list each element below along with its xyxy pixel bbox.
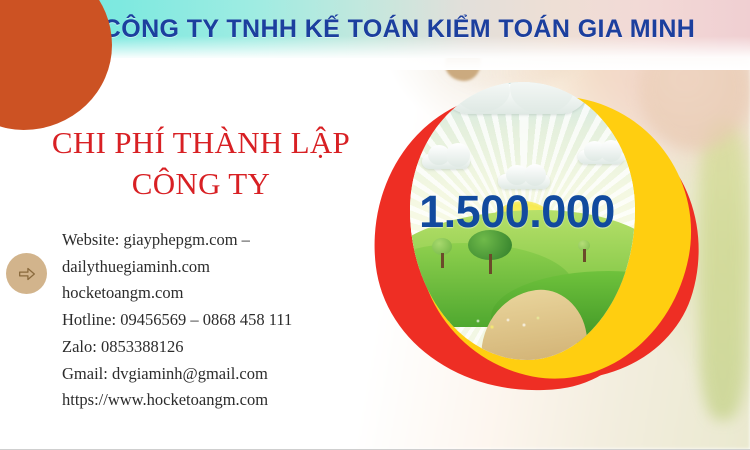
promo-banner: CÔNG TY TNHH KẾ TOÁN KIỂM TOÁN GIA MINH … — [0, 0, 750, 450]
headline-line-1: CHI PHÍ THÀNH LẬP — [36, 122, 366, 163]
contact-hotline: Hotline: 09456569 – 0868 458 111 — [62, 307, 372, 334]
tree-icon — [578, 240, 590, 262]
contact-gmail: Gmail: dvgiaminh@gmail.com — [62, 361, 372, 388]
flower-specks — [426, 314, 546, 336]
contact-url: https://www.hocketoangm.com — [62, 387, 372, 414]
tree-trunk — [583, 249, 586, 262]
contact-website-line-3: hocketoangm.com — [62, 280, 372, 307]
tree-trunk — [489, 254, 492, 274]
tree-trunk — [441, 253, 444, 268]
arrow-right-icon — [16, 263, 38, 285]
contact-zalo: Zalo: 0853388126 — [62, 334, 372, 361]
contact-website-line-2: dailythuegiaminh.com — [62, 254, 372, 281]
arrow-badge[interactable] — [6, 253, 47, 294]
tree-icon — [432, 238, 452, 268]
cloud-shape — [578, 150, 624, 164]
contact-website-line-1: Website: giayphepgm.com – — [62, 227, 372, 254]
price-value: 1.500.000 — [372, 186, 662, 238]
cloud-shape — [440, 84, 590, 114]
page-title: CHI PHÍ THÀNH LẬP CÔNG TY — [36, 122, 366, 204]
contact-info: Website: giayphepgm.com – dailythuegiami… — [62, 227, 372, 414]
headline-line-2: CÔNG TY — [36, 163, 366, 204]
background-leaf-shape — [700, 120, 746, 420]
company-title: CÔNG TY TNHH KẾ TOÁN KIỂM TOÁN GIA MINH — [0, 0, 750, 58]
cloud-shape — [422, 154, 470, 169]
